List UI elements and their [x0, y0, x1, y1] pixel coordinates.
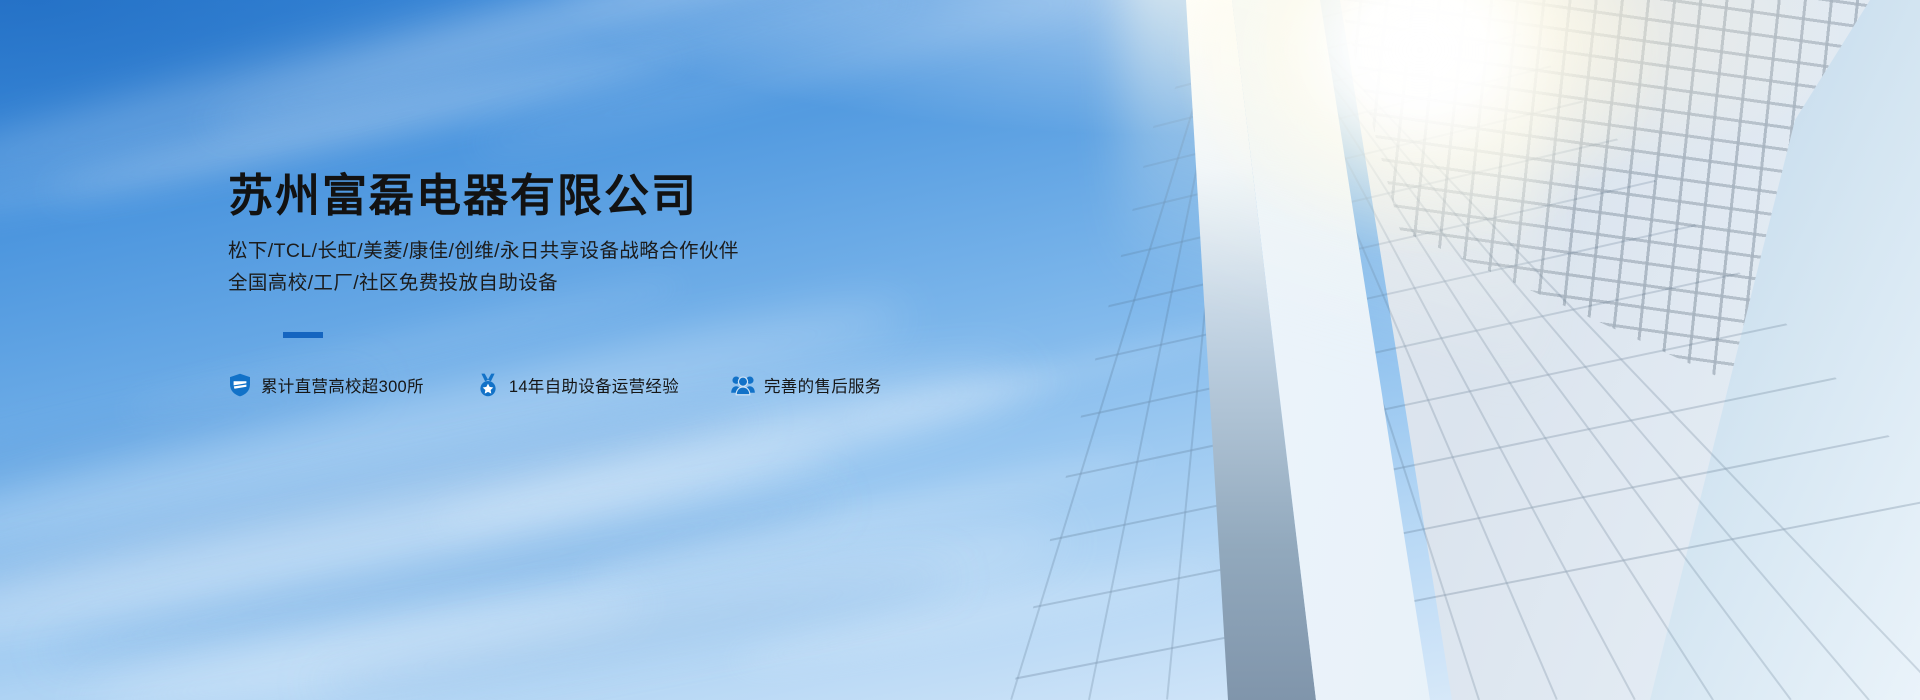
hero-banner: 苏州富磊电器有限公司 松下/TCL/长虹/美菱/康佳/创维/永日共享设备战略合作… — [0, 0, 1920, 700]
feature-badge-label: 完善的售后服务 — [764, 373, 882, 397]
feature-badge-label: 累计直营高校超300所 — [261, 373, 424, 397]
feature-badge: 14年自助设备运营经验 — [476, 373, 679, 397]
feature-badge-list: 累计直营高校超300所 14年自助设备运营经验 — [228, 373, 1228, 397]
feature-badge-label: 14年自助设备运营经验 — [509, 373, 679, 397]
subtitle-line-2: 全国高校/工厂/社区免费投放自助设备 — [228, 268, 1228, 300]
accent-divider — [283, 332, 323, 338]
subtitle-line-1: 松下/TCL/长虹/美菱/康佳/创维/永日共享设备战略合作伙伴 — [228, 236, 1228, 268]
medal-icon — [476, 373, 500, 397]
users-icon — [731, 373, 755, 397]
feature-badge: 累计直营高校超300所 — [228, 373, 424, 397]
hero-content: 苏州富磊电器有限公司 松下/TCL/长虹/美菱/康佳/创维/永日共享设备战略合作… — [228, 170, 1228, 397]
shield-icon — [228, 373, 252, 397]
feature-badge: 完善的售后服务 — [731, 373, 882, 397]
company-name-headline: 苏州富磊电器有限公司 — [228, 170, 1228, 222]
